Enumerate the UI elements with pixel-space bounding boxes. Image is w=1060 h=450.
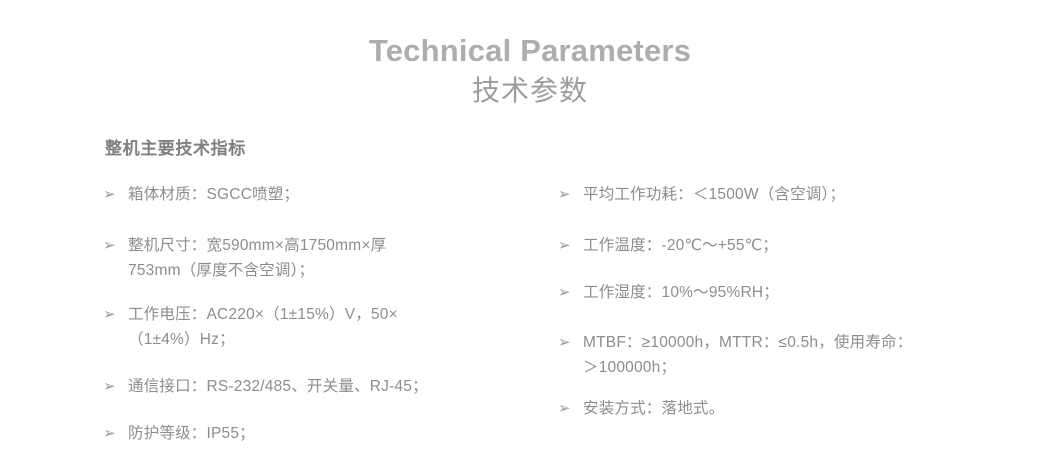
spec-text: 整机尺寸：宽590mm×高1750mm×厚 753mm（厚度不含空调）；	[128, 233, 533, 283]
spec-item-installation-method: ➢ 安装方式：落地式。	[558, 396, 1028, 421]
arrow-bullet-icon: ➢	[558, 182, 583, 207]
spec-text: 工作湿度：10%～95%RH；	[583, 280, 1028, 305]
spec-text: 通信接口：RS-232/485、开关量、RJ-45；	[128, 374, 533, 399]
spec-item-dimensions: ➢ 整机尺寸：宽590mm×高1750mm×厚 753mm（厚度不含空调）；	[103, 233, 533, 283]
spec-text: 工作电压：AC220×（1±15%）V，50× （1±4%）Hz；	[128, 302, 533, 352]
spec-item-average-power: ➢ 平均工作功耗：＜1500W（含空调）；	[558, 182, 1028, 207]
spec-item-communication-interface: ➢ 通信接口：RS-232/485、开关量、RJ-45；	[103, 374, 533, 399]
technical-parameters-page: Technical Parameters 技术参数 整机主要技术指标 ➢ 箱体材…	[0, 0, 1060, 450]
arrow-bullet-icon: ➢	[103, 182, 128, 207]
spec-item-working-voltage: ➢ 工作电压：AC220×（1±15%）V，50× （1±4%）Hz；	[103, 302, 533, 352]
spec-text: 箱体材质：SGCC喷塑；	[128, 182, 533, 207]
page-title-block: Technical Parameters 技术参数	[0, 32, 1060, 110]
arrow-bullet-icon: ➢	[103, 374, 128, 399]
spec-item-working-temperature: ➢ 工作温度：-20℃～+55℃；	[558, 233, 1028, 258]
arrow-bullet-icon: ➢	[103, 233, 128, 258]
spec-item-working-humidity: ➢ 工作湿度：10%～95%RH；	[558, 280, 1028, 305]
spec-columns: ➢ 箱体材质：SGCC喷塑； ➢ 整机尺寸：宽590mm×高1750mm×厚 7…	[0, 182, 1060, 450]
spec-text: 平均工作功耗：＜1500W（含空调）；	[583, 182, 1028, 207]
spec-item-protection-level: ➢ 防护等级：IP55；	[103, 421, 533, 446]
arrow-bullet-icon: ➢	[103, 302, 128, 327]
page-title-en: Technical Parameters	[0, 32, 1060, 70]
spec-text: 工作温度：-20℃～+55℃；	[583, 233, 1028, 258]
spec-item-mtbf-mttr: ➢ MTBF：≥10000h，MTTR：≤0.5h，使用寿命： ＞100000h…	[558, 330, 1028, 380]
section-heading: 整机主要技术指标	[105, 138, 246, 160]
arrow-bullet-icon: ➢	[558, 280, 583, 305]
arrow-bullet-icon: ➢	[558, 396, 583, 421]
spec-text: 防护等级：IP55；	[128, 421, 533, 446]
arrow-bullet-icon: ➢	[558, 233, 583, 258]
spec-text: 安装方式：落地式。	[583, 396, 1028, 421]
spec-text: MTBF：≥10000h，MTTR：≤0.5h，使用寿命： ＞100000h；	[583, 330, 1028, 380]
spec-item-cabinet-material: ➢ 箱体材质：SGCC喷塑；	[103, 182, 533, 207]
arrow-bullet-icon: ➢	[103, 421, 128, 446]
page-title-cn: 技术参数	[0, 72, 1060, 110]
arrow-bullet-icon: ➢	[558, 330, 583, 355]
